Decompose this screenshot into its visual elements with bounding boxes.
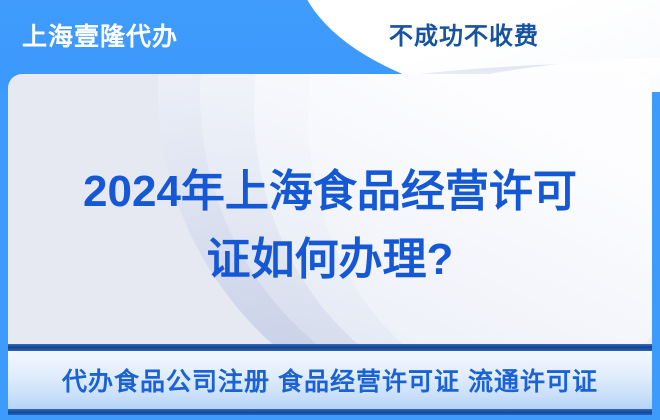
footer-top-divider xyxy=(8,344,652,351)
promo-banner: 上海壹隆代办 不成功不收费 2024年上海食品经营许可 证如何办理? 代办食品公… xyxy=(0,0,660,420)
content-card: 2024年上海食品经营许可 证如何办理? xyxy=(8,74,652,344)
slogan-text: 不成功不收费 xyxy=(389,20,539,54)
headline-block: 2024年上海食品经营许可 证如何办理? xyxy=(8,158,652,294)
footer-keywords: 代办食品公司注册 食品经营许可证 流通许可证 xyxy=(62,362,598,398)
headline-line-1: 2024年上海食品经营许可 xyxy=(8,158,652,226)
footer-keyword-bar: 代办食品公司注册 食品经营许可证 流通许可证 xyxy=(8,351,652,409)
bottom-blue-rail xyxy=(0,415,660,420)
headline-line-2: 证如何办理? xyxy=(8,226,652,294)
brand-title: 上海壹隆代办 xyxy=(22,21,178,53)
